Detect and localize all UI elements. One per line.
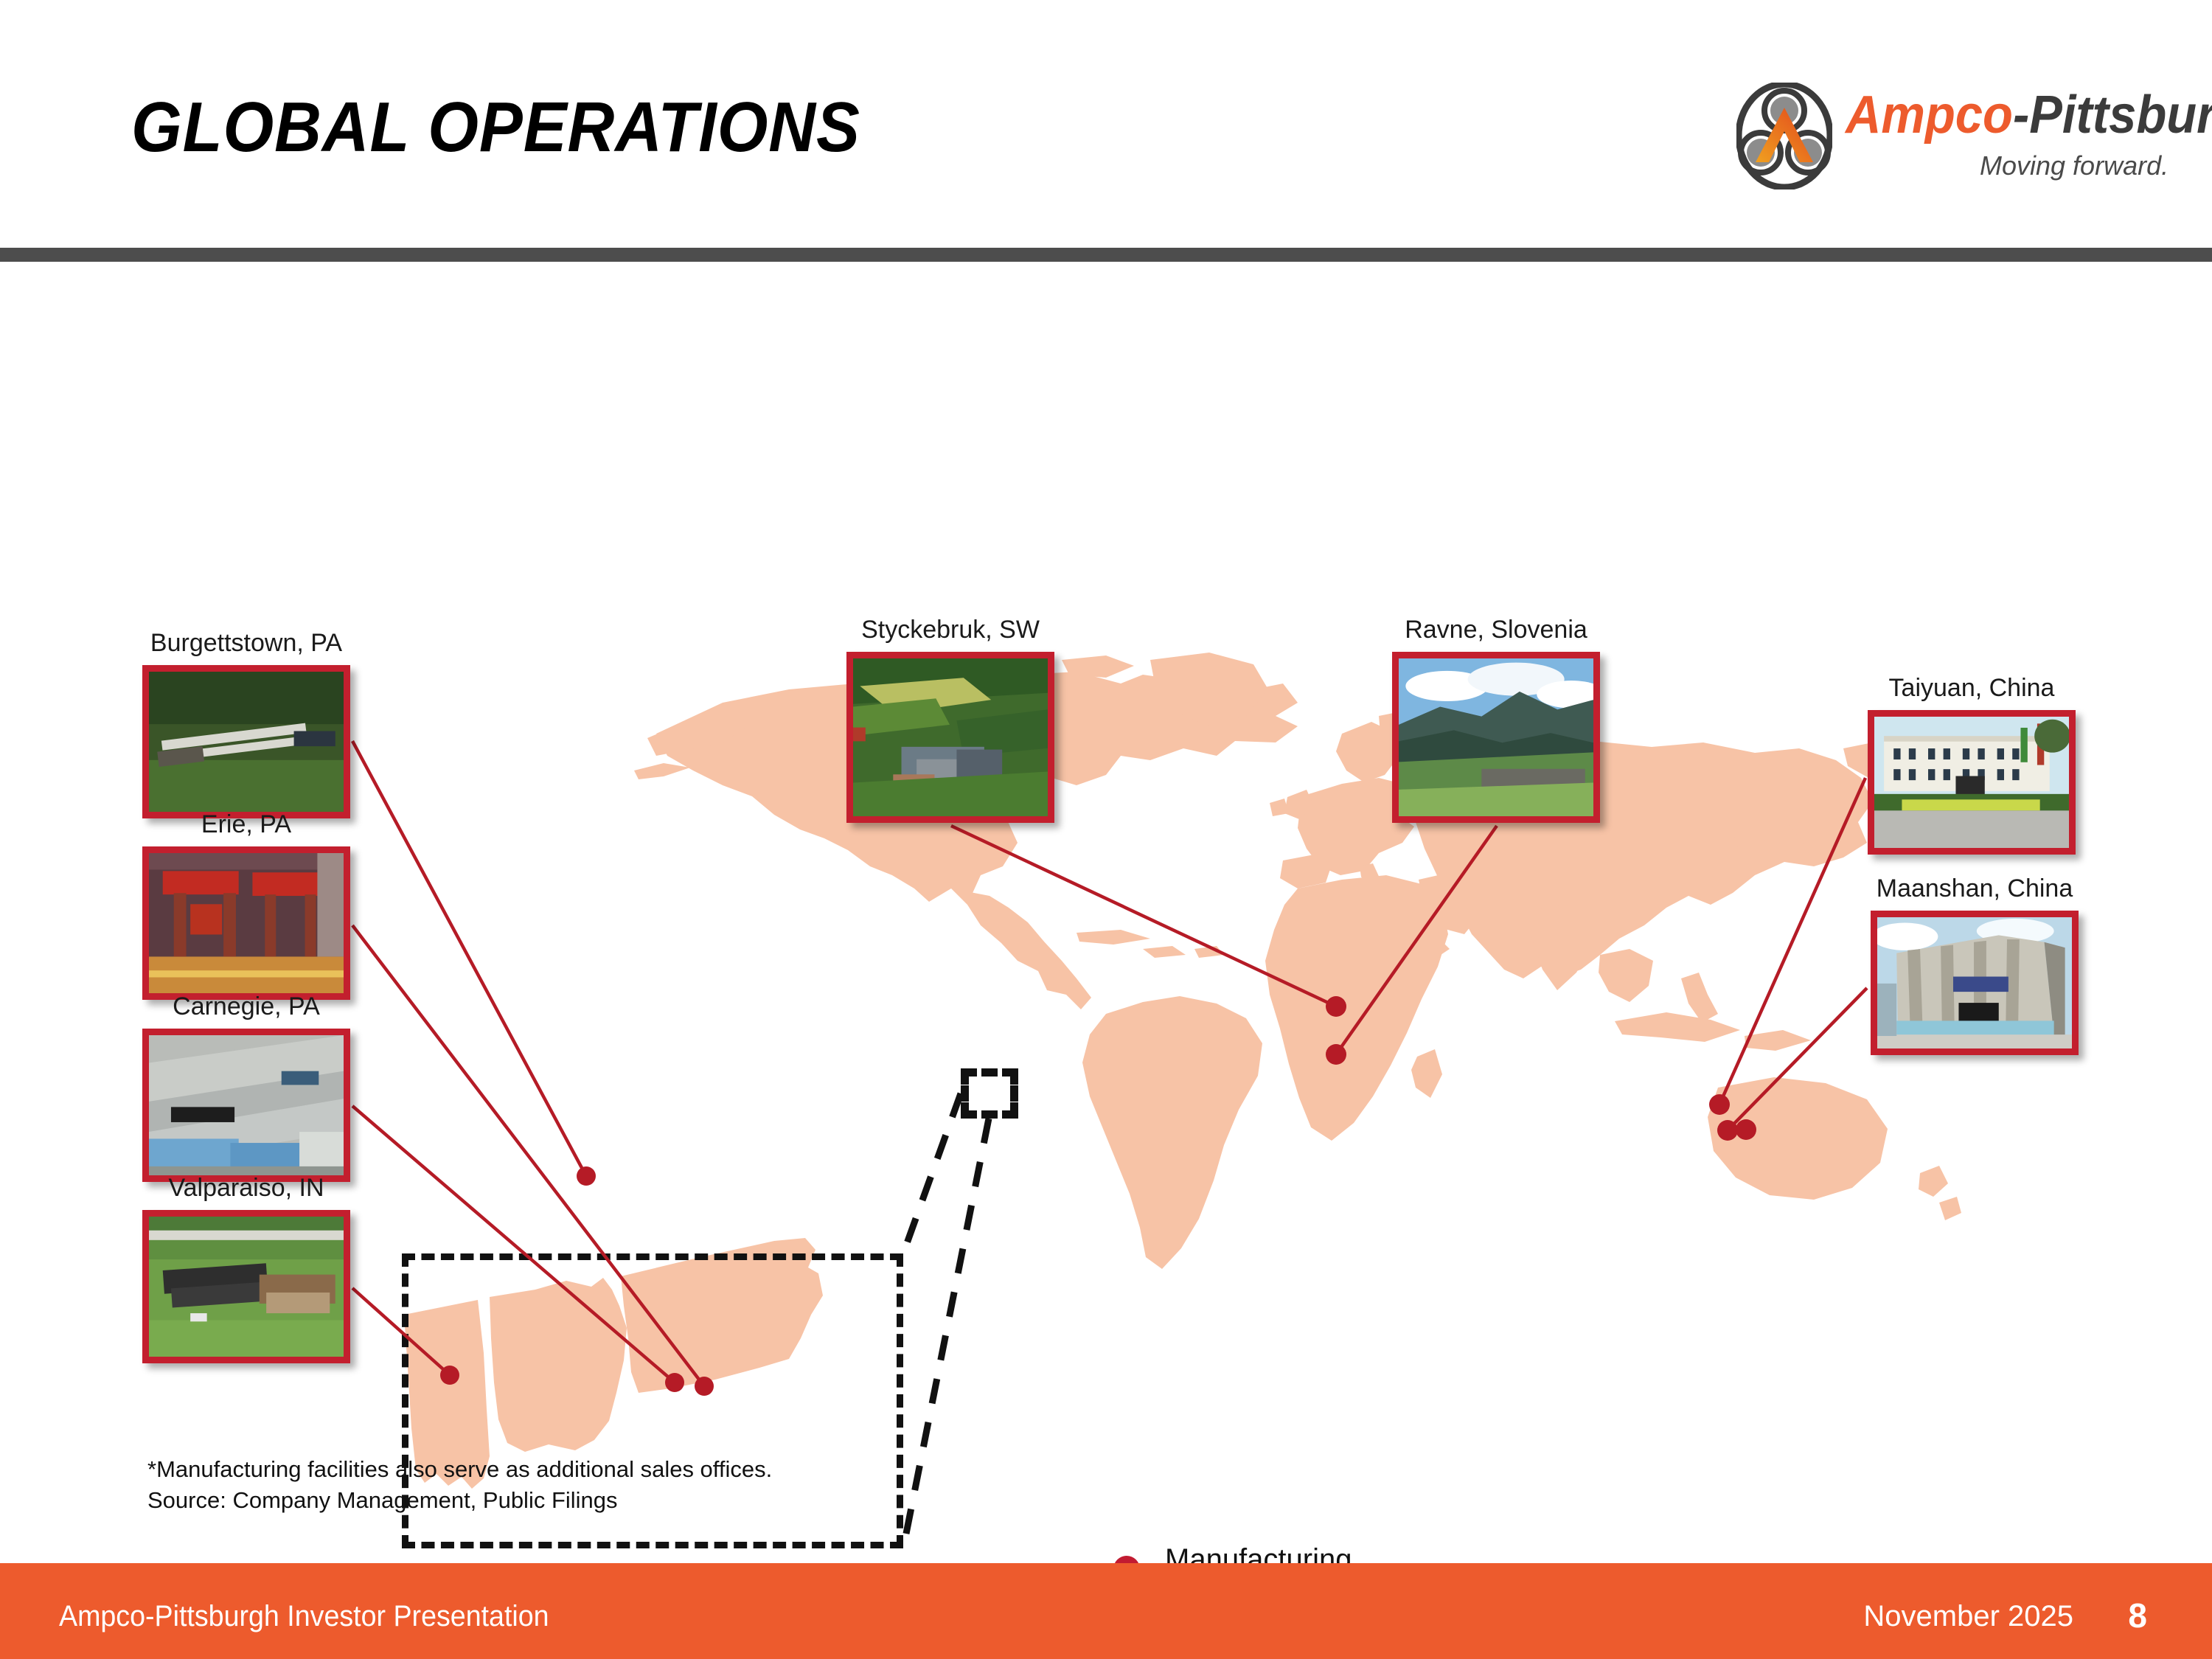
page-title: GLOBAL OPERATIONS [131, 87, 860, 168]
world-map [634, 645, 1976, 1309]
logo-word-pittsburgh: -Pittsburgh [2013, 86, 2212, 145]
footer-presentation-title: Ampco-Pittsburgh Investor Presentation [59, 1600, 549, 1633]
photo-label-erie: Erie, PA [201, 810, 291, 839]
photo-label-styckebruk: Styckebruk, SW [861, 616, 1040, 644]
footnote-line-2: Source: Company Management, Public Filin… [147, 1485, 772, 1516]
photo-frame-styckebruk [846, 652, 1054, 823]
map-stage: Burgettstown, PA Erie, PA [0, 262, 2212, 1563]
photo-frame-carnegie [142, 1029, 350, 1182]
footnotes: *Manufacturing facilities also serve as … [147, 1454, 772, 1516]
logo-wordmark: Ampco-Pittsburgh [1846, 88, 2212, 142]
photo-label-valparaiso: Valparaiso, IN [168, 1174, 324, 1203]
photo-label-burgettstown: Burgettstown, PA [150, 629, 342, 658]
photo-label-ravne: Ravne, Slovenia [1405, 616, 1587, 644]
footnote-line-1: *Manufacturing facilities also serve as … [147, 1454, 772, 1485]
slide-header: GLOBAL OPERATIONS Ampco-Pittsburgh Movin… [0, 0, 2212, 262]
photo-frame-burgettstown [142, 665, 350, 818]
logo-word-ampco: Ampco [1846, 86, 2013, 145]
photo-label-carnegie: Carnegie, PA [173, 992, 320, 1021]
photo-frame-erie [142, 846, 350, 1000]
photo-frame-maanshan [1871, 911, 2079, 1055]
logo-tagline: Moving forward. [1980, 150, 2168, 181]
header-divider [0, 248, 2212, 262]
company-logo: Ampco-Pittsburgh Moving forward. [1736, 83, 2194, 189]
photo-frame-ravne [1392, 652, 1600, 823]
photo-frame-taiyuan [1868, 710, 2076, 855]
photo-frame-valparaiso [142, 1210, 350, 1363]
northeast-us-locator-box [961, 1068, 1018, 1119]
footer-page-number: 8 [2128, 1596, 2147, 1635]
footer-date: November 2025 [1863, 1600, 2073, 1633]
ampco-trefoil-emblem [1736, 83, 1832, 189]
slide-footer: Ampco-Pittsburgh Investor Presentation N… [0, 1563, 2212, 1659]
facility-dot-burgettstown [577, 1166, 596, 1186]
photo-label-maanshan: Maanshan, China [1877, 874, 2073, 903]
photo-label-taiyuan: Taiyuan, China [1889, 674, 2055, 703]
